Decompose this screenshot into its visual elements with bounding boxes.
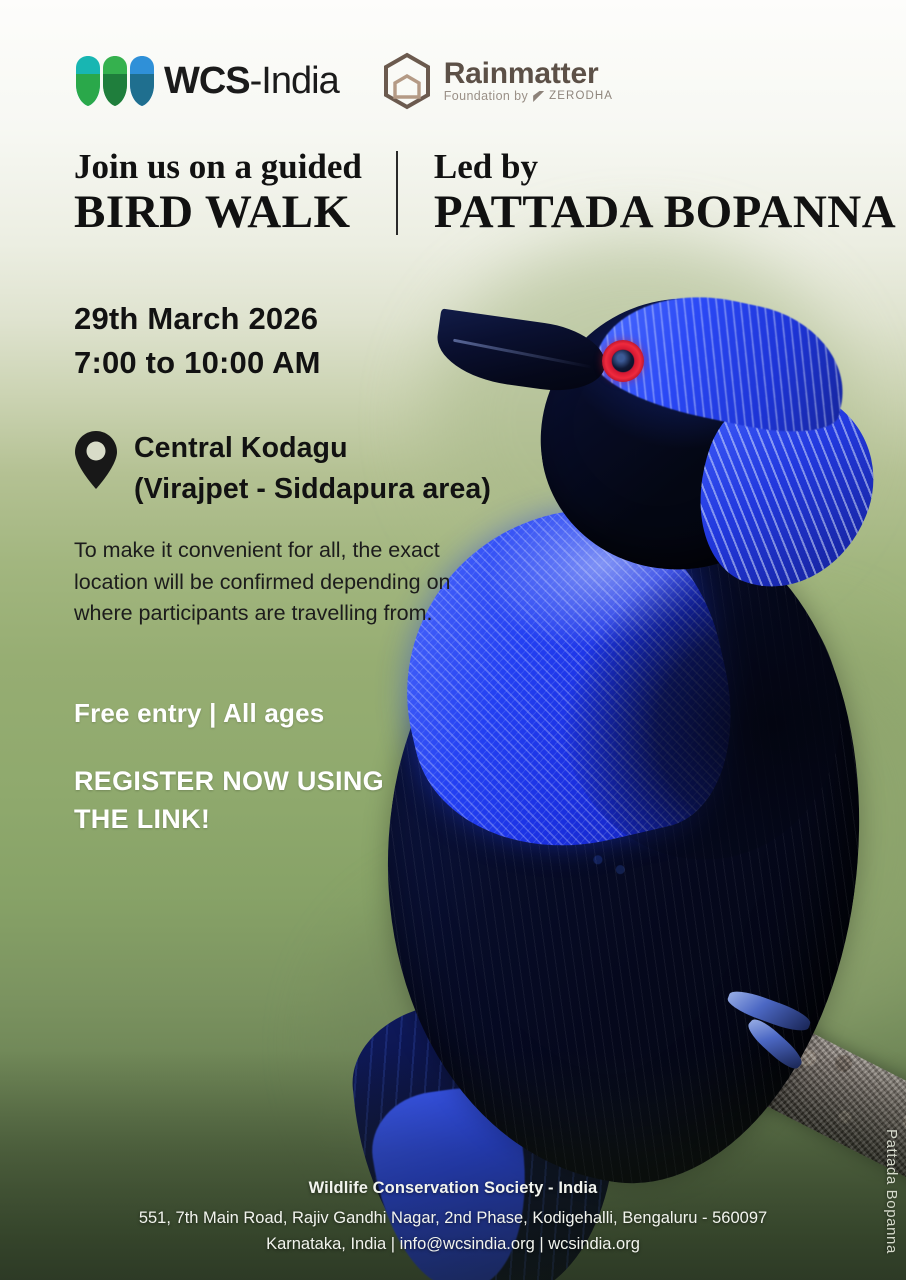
footer-organisation: Wildlife Conservation Society - India: [0, 1179, 906, 1198]
register-cta[interactable]: REGISTER NOW USING THE LINK!: [74, 762, 384, 839]
rainmatter-tagline-prefix: Foundation by: [444, 90, 528, 103]
logo-row: WCS-India Rainmatter Foundation by ZEROD…: [74, 52, 613, 110]
headline-right-column: Led by PATTADA BOPANNA: [398, 147, 896, 239]
location-line-1: Central Kodagu: [134, 428, 491, 469]
headline-block: Join us on a guided BIRD WALK Led by PAT…: [74, 147, 896, 239]
wcs-light-text: -India: [250, 60, 339, 102]
wcs-bold-text: WCS: [164, 60, 250, 102]
event-date: 29th March 2026: [74, 297, 321, 341]
rainmatter-hexagon-logo-icon: [381, 52, 433, 110]
wcs-india-wordmark: WCS-India: [164, 62, 339, 100]
map-pin-icon: [74, 430, 118, 490]
headline-bird-walk: BIRD WALK: [74, 186, 362, 239]
event-location: Central Kodagu (Virajpet - Siddapura are…: [74, 428, 491, 511]
headline-left-column: Join us on a guided BIRD WALK: [74, 147, 396, 239]
bird-walk-poster: WCS-India Rainmatter Foundation by ZEROD…: [0, 0, 906, 1280]
footer-address-line-1: 551, 7th Main Road, Rajiv Gandhi Nagar, …: [0, 1205, 906, 1232]
rainmatter-text-block: Rainmatter Foundation by ZERODHA: [444, 59, 613, 103]
headline-led-by: Led by: [434, 147, 896, 186]
wcs-w-petals-logo-icon: [74, 54, 156, 108]
poster-content: WCS-India Rainmatter Foundation by ZEROD…: [0, 0, 906, 1280]
register-cta-line-1: REGISTER NOW USING: [74, 762, 384, 800]
footer: Wildlife Conservation Society - India 55…: [0, 1179, 906, 1258]
register-cta-line-2: THE LINK!: [74, 800, 384, 838]
location-line-2: (Virajpet - Siddapura area): [134, 469, 491, 510]
headline-join-us: Join us on a guided: [74, 147, 362, 186]
location-note: To make it convenient for all, the exact…: [74, 535, 454, 630]
footer-address-line-2: Karnataka, India | info@wcsindia.org | w…: [0, 1231, 906, 1258]
rainmatter-logo: Rainmatter Foundation by ZERODHA: [381, 52, 613, 110]
wcs-india-logo: WCS-India: [74, 54, 339, 108]
rainmatter-wordmark: Rainmatter: [444, 59, 613, 89]
zerodha-kite-icon: [533, 91, 544, 102]
event-datetime: 29th March 2026 7:00 to 10:00 AM: [74, 297, 321, 385]
zerodha-wordmark: ZERODHA: [549, 91, 613, 103]
headline-leader-name: PATTADA BOPANNA: [434, 186, 896, 239]
photo-credit: Pattada Bopanna: [883, 1129, 900, 1254]
event-time: 7:00 to 10:00 AM: [74, 341, 321, 385]
entry-info: Free entry | All ages: [74, 698, 324, 729]
location-text: Central Kodagu (Virajpet - Siddapura are…: [134, 428, 491, 511]
rainmatter-tagline: Foundation by ZERODHA: [444, 90, 613, 103]
